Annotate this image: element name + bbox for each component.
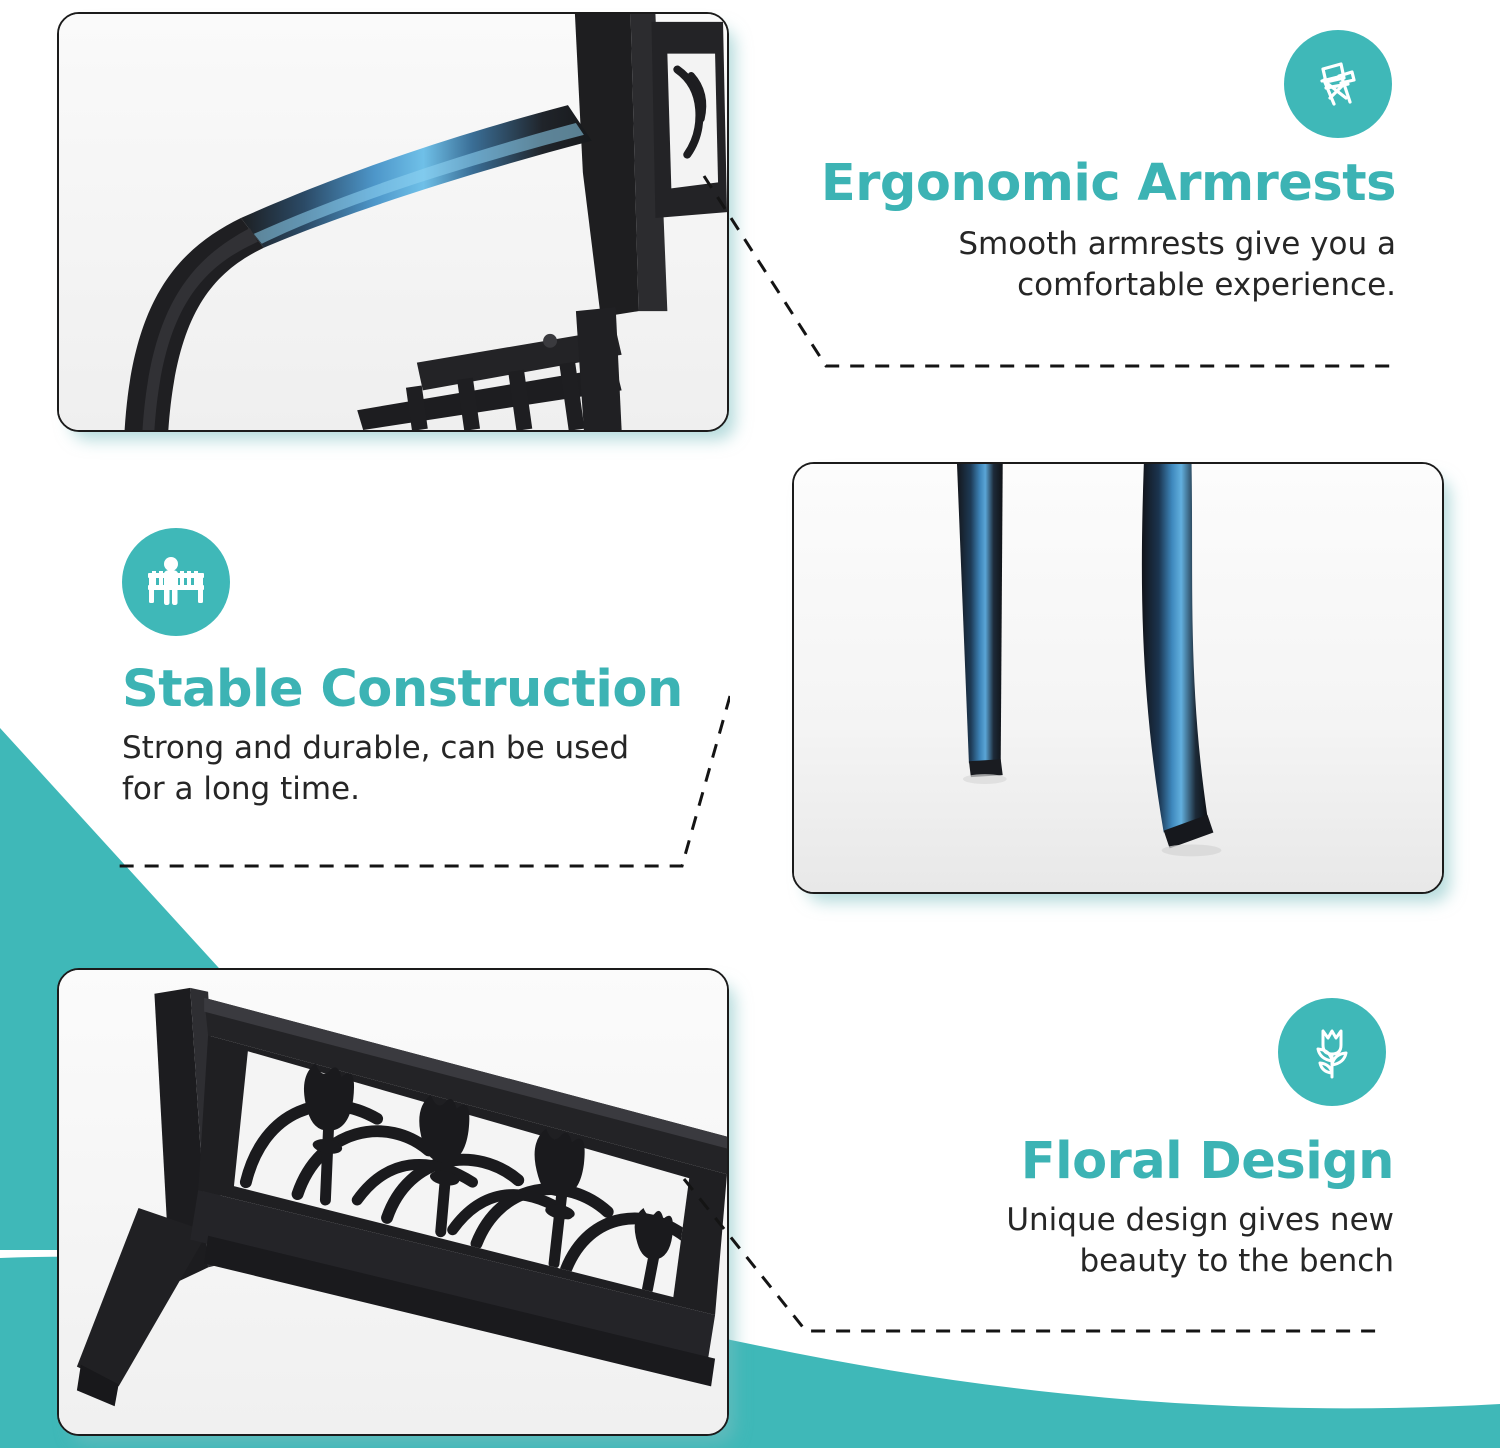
feature-description: Smooth armrests give you a comfortable e… — [780, 224, 1396, 306]
feature-block-floral-design: Floral Design Unique design gives new be… — [960, 998, 1400, 1282]
feature-block-stable-construction: Stable Construction Strong and durable, … — [122, 528, 742, 810]
feature-desc-line-1: Unique design gives new — [960, 1200, 1394, 1241]
feature-block-ergonomic-armrests: Ergonomic Armrests Smooth armrests give … — [780, 30, 1400, 306]
feature-title: Floral Design — [960, 1136, 1394, 1188]
feature-description: Unique design gives new beauty to the be… — [960, 1200, 1394, 1282]
feature-title: Ergonomic Armrests — [780, 158, 1396, 210]
feature-desc-line-1: Smooth armrests give you a — [780, 224, 1396, 265]
feature-desc-line-2: for a long time. — [122, 769, 742, 810]
folding-chair-icon — [1284, 30, 1392, 138]
feature-title: Stable Construction — [122, 664, 742, 716]
photo-card-floral-backrest — [57, 968, 729, 1436]
floral-backrest-photo — [59, 970, 727, 1434]
feature-desc-line-1: Strong and durable, can be used — [122, 728, 742, 769]
photo-card-armrest — [57, 12, 729, 432]
armrest-photo — [59, 14, 727, 430]
infographic-canvas: Ergonomic Armrests Smooth armrests give … — [0, 0, 1500, 1448]
legs-photo — [794, 464, 1442, 892]
feature-description: Strong and durable, can be used for a lo… — [122, 728, 742, 810]
person-on-bench-icon — [122, 528, 230, 636]
feature-desc-line-2: beauty to the bench — [960, 1241, 1394, 1282]
feature-desc-line-2: comfortable experience. — [780, 265, 1396, 306]
photo-card-legs — [792, 462, 1444, 894]
tulip-flower-icon — [1278, 998, 1386, 1106]
